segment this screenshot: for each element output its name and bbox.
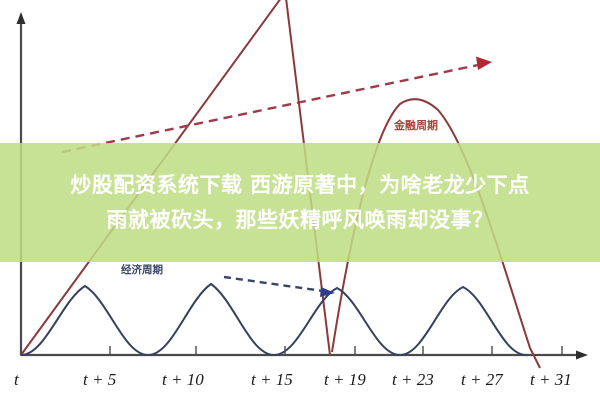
economic-cycle-label: 经济周期 — [121, 263, 163, 276]
x-tick-label-t19: t + 19 — [324, 370, 366, 389]
x-tick-label-t10: t + 10 — [162, 370, 204, 389]
x-axis-ticks — [21, 346, 562, 355]
x-tick-label-t31: t + 31 — [530, 370, 572, 389]
financial-cycle-label: 金融周期 — [393, 118, 438, 132]
economic-trend-line — [224, 277, 323, 291]
economic-trend-arrow — [224, 277, 335, 297]
x-tick-label-t5: t + 5 — [83, 370, 116, 389]
chart-canvas: t t + 5 t + 10 t + 15 t + 19 t + 23 t + … — [0, 0, 600, 400]
x-tick-label-t27: t + 27 — [461, 370, 504, 389]
x-tick-label-t15: t + 15 — [251, 370, 293, 389]
x-tick-label-t: t — [14, 370, 20, 389]
financial-cycle-arch — [332, 99, 540, 368]
financial-cycle — [21, 0, 540, 368]
x-axis-tick-labels: t t + 5 t + 10 t + 15 t + 19 t + 23 t + … — [14, 370, 572, 389]
x-axis-arrowhead — [576, 351, 588, 360]
x-tick-label-t23: t + 23 — [392, 370, 434, 389]
financial-cycle-ascending-limb — [21, 0, 300, 355]
cycle-chart: t t + 5 t + 10 t + 15 t + 19 t + 23 t + … — [0, 0, 600, 400]
y-axis — [17, 12, 26, 355]
financial-trend-arrow — [62, 57, 492, 153]
x-axis — [21, 351, 588, 360]
financial-trend-line — [62, 65, 478, 152]
financial-trend-arrowhead — [476, 57, 492, 71]
economic-cycle — [21, 284, 526, 355]
y-axis-arrowhead — [17, 12, 26, 24]
economic-cycle-curve — [21, 284, 526, 355]
